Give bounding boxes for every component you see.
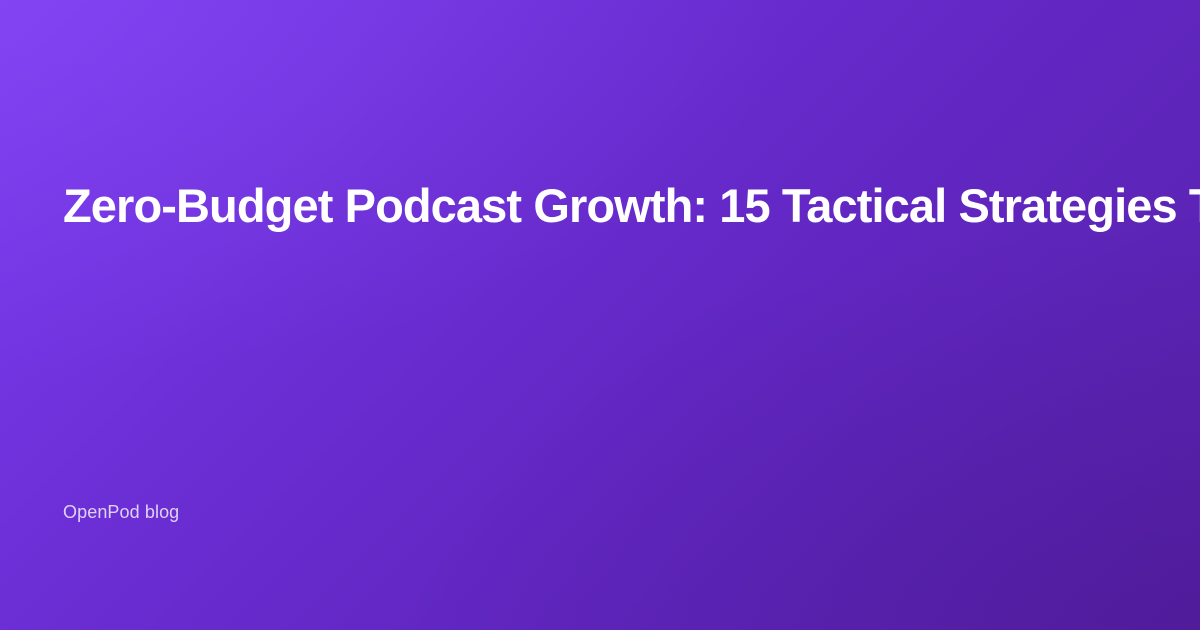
share-card: Zero-Budget Podcast Growth: 15 Tactical …: [0, 0, 1200, 630]
site-name-footer: OpenPod blog: [63, 500, 179, 525]
page-title: Zero-Budget Podcast Growth: 15 Tactical …: [63, 178, 1200, 233]
card-content: Zero-Budget Podcast Growth: 15 Tactical …: [0, 0, 1200, 630]
